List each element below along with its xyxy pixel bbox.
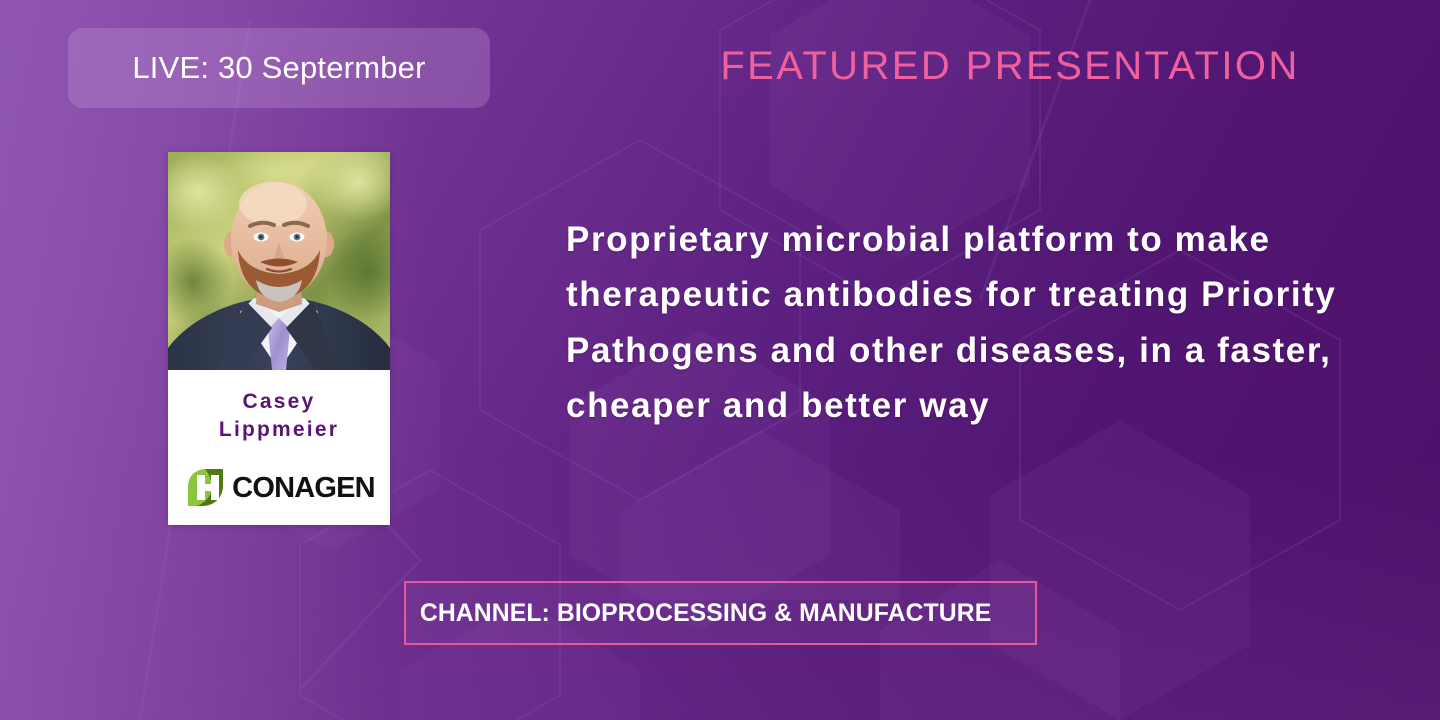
speaker-name: Casey Lippmeier [179, 388, 379, 443]
channel-label: CHANNEL: BIOPROCESSING & MANUFACTURE [406, 599, 991, 628]
speaker-card: Casey Lippmeier CONAGEN [168, 152, 390, 525]
speaker-headshot [168, 152, 390, 370]
conagen-leaf-icon [183, 467, 227, 509]
presentation-headline: Proprietary microbial platform to make t… [566, 212, 1406, 433]
channel-badge: CHANNEL: BIOPROCESSING & MANUFACTURE [404, 581, 1037, 645]
live-date-label: LIVE: 30 Septermber [132, 50, 425, 86]
conagen-logo: CONAGEN [183, 467, 375, 509]
featured-presentation-title: FEATURED PRESENTATION [640, 44, 1380, 89]
live-date-badge: LIVE: 30 Septermber [68, 28, 490, 108]
conagen-wordmark: CONAGEN [232, 474, 375, 503]
presentation-slide: LIVE: 30 Septermber FEATURED PRESENTATIO… [0, 0, 1440, 720]
